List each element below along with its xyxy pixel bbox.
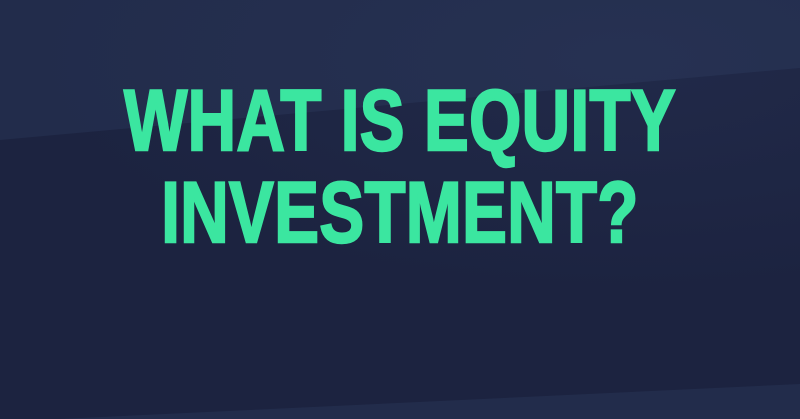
page-title: WHAT IS EQUITY INVESTMENT? [88,78,712,256]
page-title-line-2: INVESTMENT? [88,170,712,256]
title-card-banner: WHAT IS EQUITY INVESTMENT? [0,0,800,419]
page-title-line-1: WHAT IS EQUITY [88,78,712,164]
diagonal-band-bottom [0,349,800,419]
